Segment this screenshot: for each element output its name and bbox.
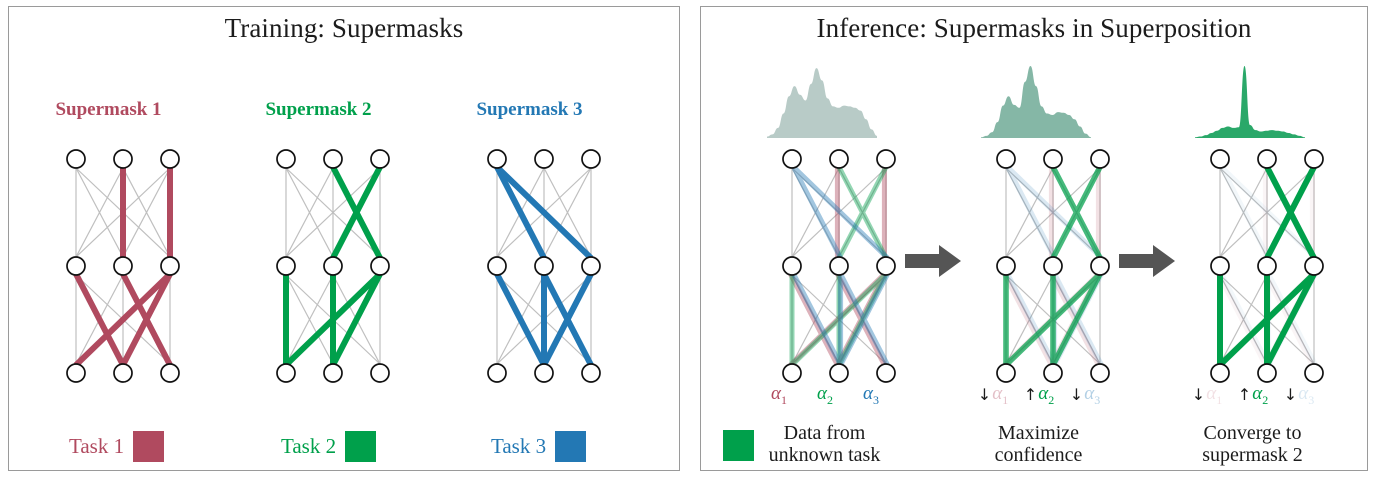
confidence-distribution-2 bbox=[981, 66, 1091, 140]
network-graph bbox=[482, 146, 618, 392]
task-legend-label-2: Task 2 bbox=[281, 434, 336, 459]
alpha-symbol: α3 bbox=[1298, 383, 1314, 408]
network-graph bbox=[991, 146, 1127, 392]
stage-caption-line: Converge to bbox=[1175, 422, 1330, 444]
arrow-down-icon: ↓ bbox=[1192, 387, 1205, 403]
alpha-label-row-2: ↓α1↑α2↓α3 bbox=[969, 383, 1109, 408]
stage-caption-1: Data fromunknown task bbox=[747, 422, 902, 467]
alpha-symbol: α2 bbox=[1252, 383, 1268, 408]
unknown-task-legend-swatch bbox=[723, 430, 754, 461]
alpha-label-row-3: ↓α1↑α2↓α3 bbox=[1183, 383, 1323, 408]
stage-caption-line: unknown task bbox=[747, 444, 902, 466]
arrow-up-icon: ↑ bbox=[1024, 387, 1037, 403]
stage-caption-line: confidence bbox=[961, 444, 1116, 466]
alpha-symbol: α1 bbox=[771, 383, 787, 408]
confidence-distribution-1 bbox=[767, 66, 877, 140]
alpha-symbol: α3 bbox=[1084, 383, 1100, 408]
task-legend-1: Task 1 bbox=[69, 431, 164, 462]
inference-panel-title: Inference: Supermasks in Superposition bbox=[701, 13, 1367, 44]
stage-caption-3: Converge tosupermask 2 bbox=[1175, 422, 1330, 467]
training-panel: Training: Supermasks Supermask 1Supermas… bbox=[8, 6, 680, 471]
training-panel-title: Training: Supermasks bbox=[9, 13, 679, 44]
alpha-label-1-2: α2 bbox=[802, 383, 848, 408]
task-legend-swatch-3 bbox=[555, 431, 586, 462]
stage-caption-line: Maximize bbox=[961, 422, 1116, 444]
alpha-label-1-1: α1 bbox=[756, 383, 802, 408]
supermask-title-1: Supermask 1 bbox=[31, 99, 186, 121]
alpha-symbol: α1 bbox=[992, 383, 1008, 408]
alpha-symbol: α1 bbox=[1206, 383, 1222, 408]
network-graph bbox=[61, 146, 197, 392]
alpha-symbol: α2 bbox=[1038, 383, 1054, 408]
stage-caption-line: Data from bbox=[747, 422, 902, 444]
stage-caption-2: Maximizeconfidence bbox=[961, 422, 1116, 467]
arrow-up-icon: ↑ bbox=[1238, 387, 1251, 403]
alpha-symbol: α3 bbox=[863, 383, 879, 408]
network-graph bbox=[1205, 146, 1341, 392]
inference-panel: Inference: Supermasks in Superposition α… bbox=[700, 6, 1368, 471]
arrow-down-icon: ↓ bbox=[1070, 387, 1083, 403]
stage-caption-line: supermask 2 bbox=[1175, 444, 1330, 466]
task-legend-2: Task 2 bbox=[281, 431, 376, 462]
network-graph bbox=[271, 146, 407, 392]
task-legend-label-3: Task 3 bbox=[491, 434, 546, 459]
network-graph bbox=[777, 146, 913, 392]
alpha-label-3-2: ↑α2 bbox=[1230, 383, 1276, 408]
alpha-label-row-1: α1α2α3 bbox=[755, 383, 895, 408]
confidence-distribution-3 bbox=[1195, 66, 1305, 140]
task-legend-label-1: Task 1 bbox=[69, 434, 124, 459]
alpha-label-1-3: α3 bbox=[848, 383, 894, 408]
supermask-title-3: Supermask 3 bbox=[452, 99, 607, 121]
arrow-down-icon: ↓ bbox=[978, 387, 991, 403]
alpha-label-2-2: ↑α2 bbox=[1016, 383, 1062, 408]
alpha-label-3-1: ↓α1 bbox=[1184, 383, 1230, 408]
figure-root: Training: Supermasks Supermask 1Supermas… bbox=[0, 0, 1376, 477]
alpha-label-2-1: ↓α1 bbox=[970, 383, 1016, 408]
task-legend-3: Task 3 bbox=[491, 431, 586, 462]
alpha-symbol: α2 bbox=[817, 383, 833, 408]
task-legend-swatch-2 bbox=[345, 431, 376, 462]
alpha-label-3-3: ↓α3 bbox=[1276, 383, 1322, 408]
supermask-title-2: Supermask 2 bbox=[241, 99, 396, 121]
task-legend-swatch-1 bbox=[133, 431, 164, 462]
alpha-label-2-3: ↓α3 bbox=[1062, 383, 1108, 408]
arrow-down-icon: ↓ bbox=[1284, 387, 1297, 403]
